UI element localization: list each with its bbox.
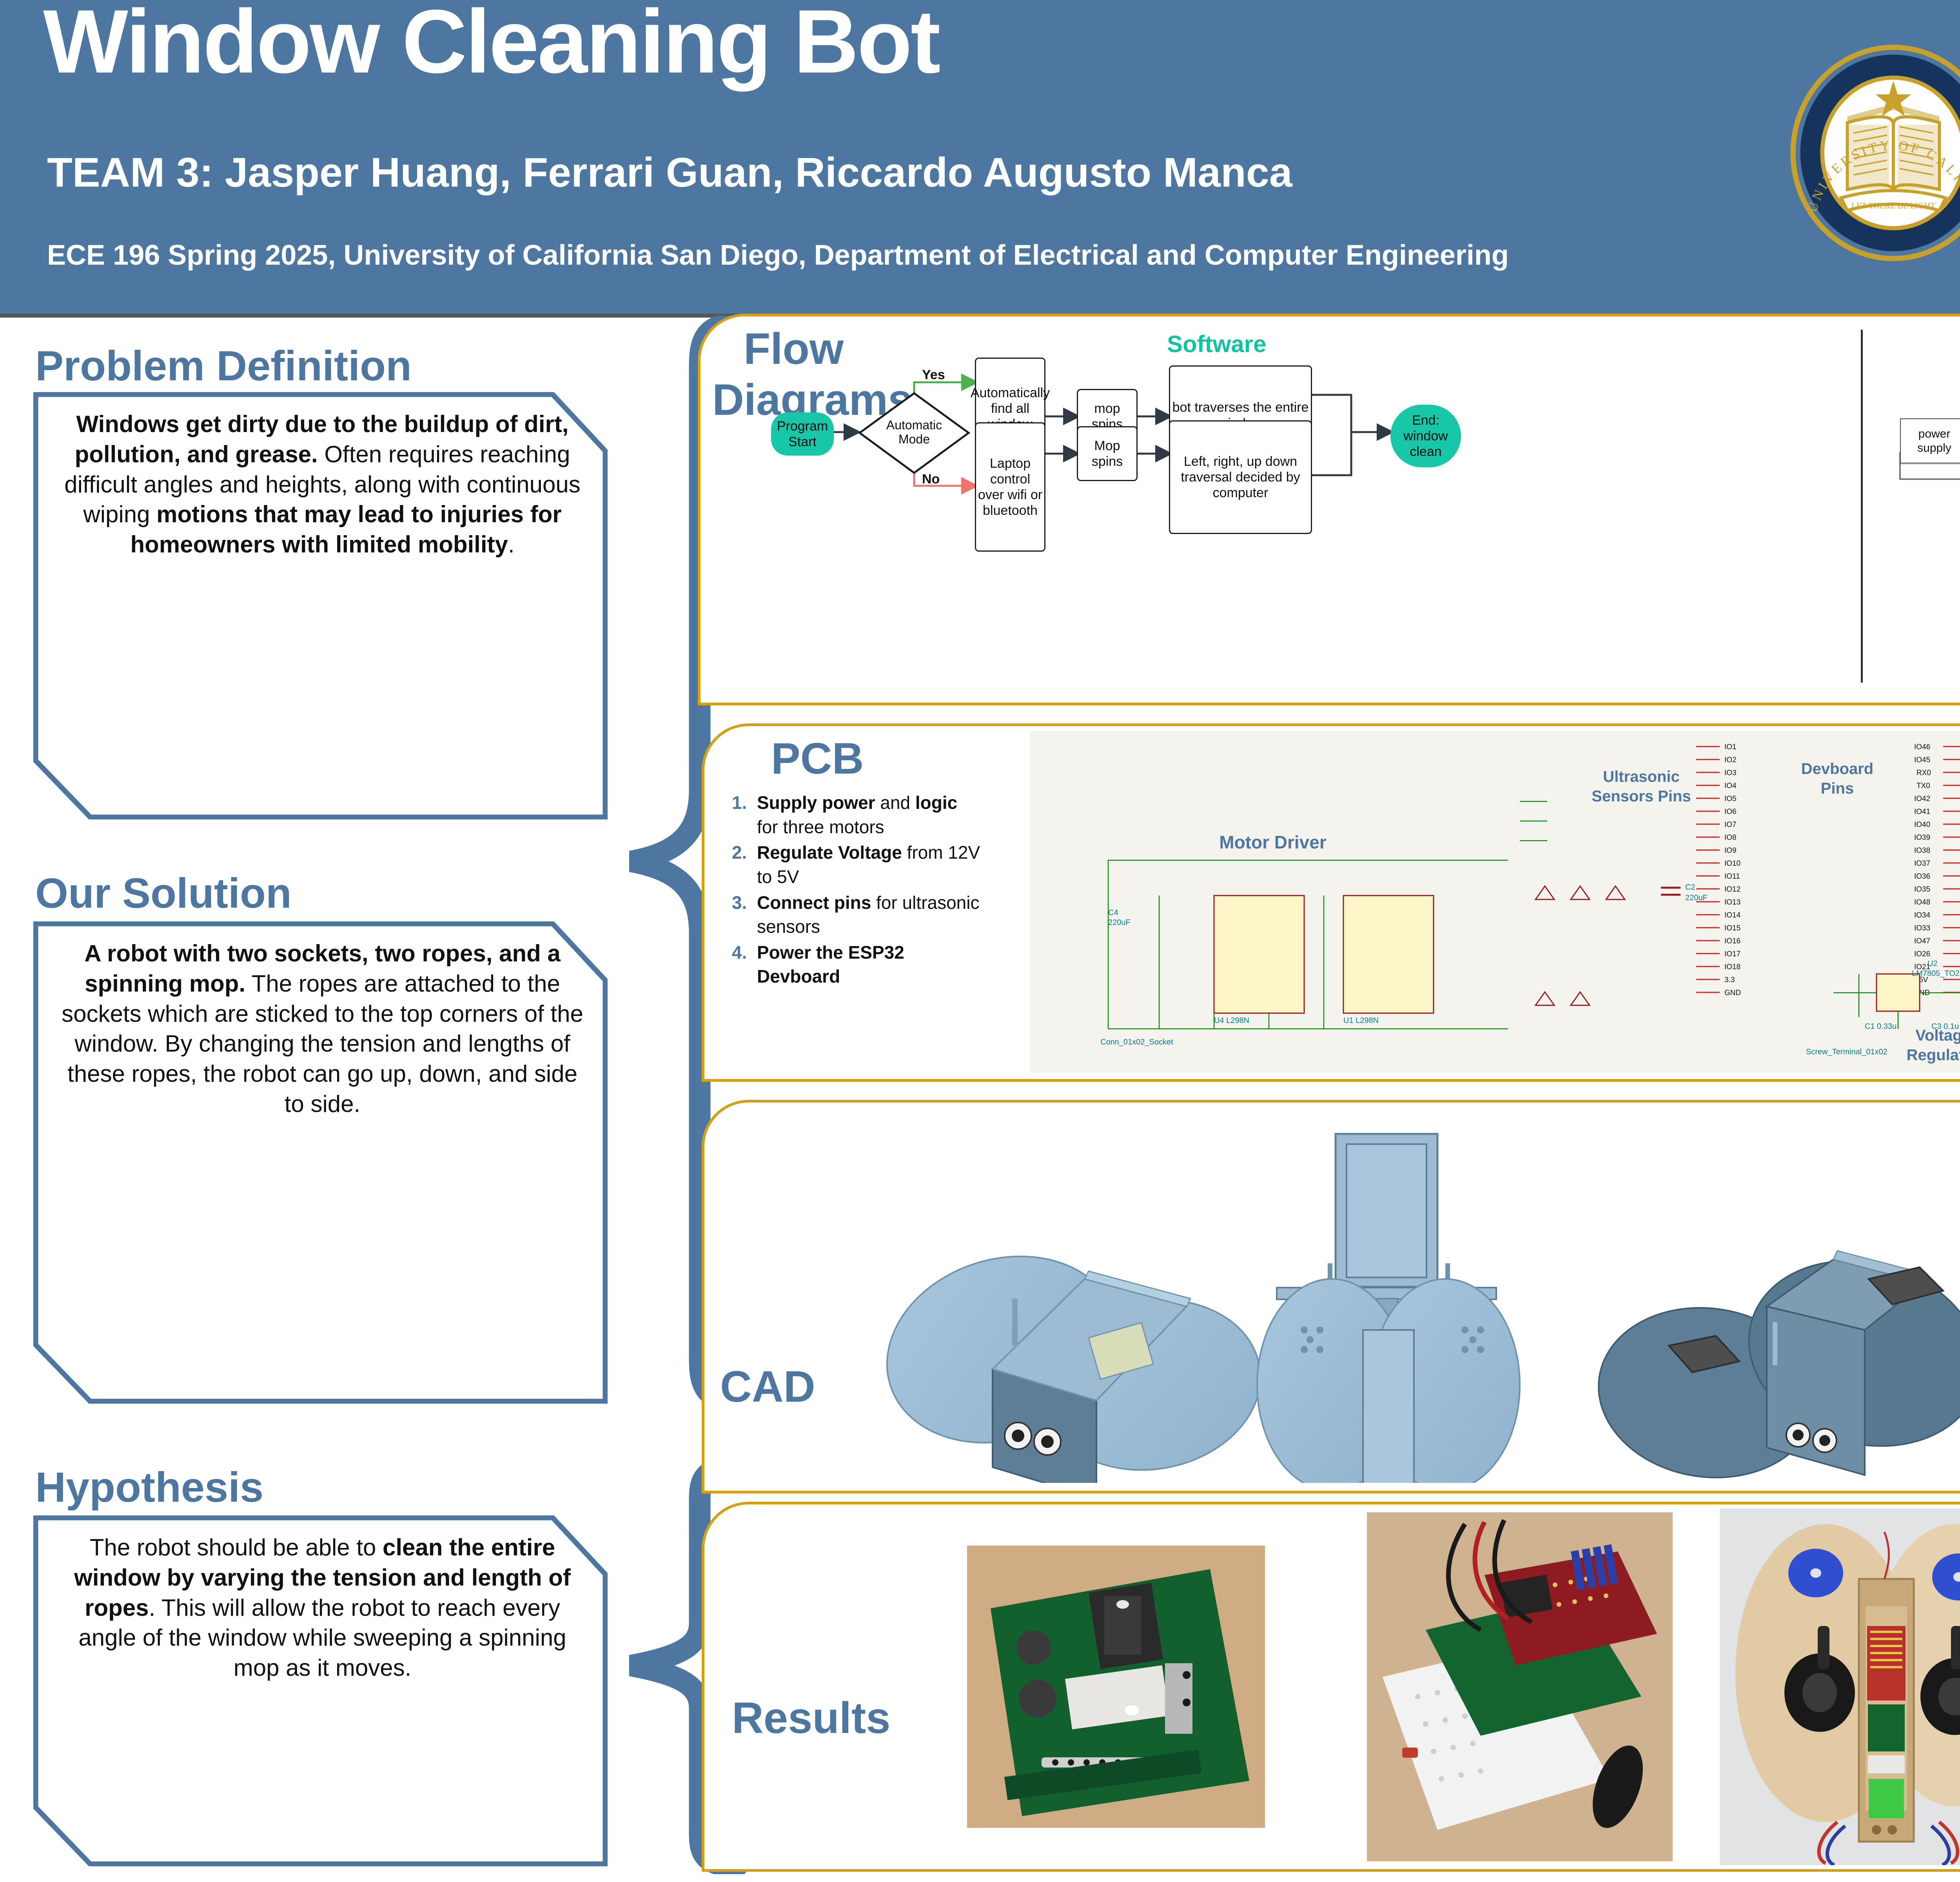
flow-node-mop-spins-2: Mop spins (1077, 426, 1138, 481)
svg-text:U4 L298N: U4 L298N (1214, 1016, 1249, 1025)
hypothesis-box: The robot should be able to clean the en… (33, 1515, 608, 1866)
svg-text:IO37: IO37 (1914, 859, 1930, 868)
svg-text:IO42: IO42 (1914, 795, 1930, 803)
problem-definition-box: Windows get dirty due to the buildup of … (33, 392, 608, 819)
svg-text:IO4: IO4 (1724, 782, 1737, 790)
list-item: 1.Supply power and logic for three motor… (732, 791, 983, 839)
svg-text:IO15: IO15 (1724, 924, 1740, 932)
svg-text:IO2: IO2 (1724, 756, 1737, 764)
flow-node-manual-traversal: Left, right, up down traversal decided b… (1169, 420, 1312, 534)
hypothesis-text: The robot should be able to clean the en… (57, 1533, 588, 1683)
svg-text:220uF: 220uF (1685, 894, 1708, 902)
flow-node-laptop-control: Laptop control over wifi or bluetooth (975, 422, 1045, 552)
svg-text:IO35: IO35 (1914, 885, 1930, 894)
svg-text:IO8: IO8 (1724, 834, 1737, 842)
svg-text:Ultrasonic: Ultrasonic (1603, 768, 1680, 785)
results-panel: Results (702, 1502, 1960, 1872)
svg-text:Devboard: Devboard (1801, 760, 1874, 778)
flow-edge-label-yes: Yes (922, 367, 945, 383)
page-title: Window Cleaning Bot (43, 0, 939, 89)
cad-panel: CAD (702, 1100, 1960, 1493)
svg-text:Mode: Mode (898, 432, 930, 446)
svg-text:RX0: RX0 (1916, 769, 1931, 777)
cad-renders-image (814, 1110, 1960, 1483)
svg-text:IO17: IO17 (1724, 950, 1740, 958)
svg-text:IO1: IO1 (1724, 743, 1737, 751)
flow-diagrams-panel: Flow Diagrams Software Hardware (698, 314, 1960, 705)
svg-text:IO45: IO45 (1914, 756, 1930, 764)
svg-text:U2: U2 (1927, 959, 1938, 968)
cad-title: CAD (720, 1361, 815, 1412)
svg-text:IO41: IO41 (1914, 808, 1930, 816)
svg-text:LET THERE BE LIGHT: LET THERE BE LIGHT (1851, 201, 1935, 210)
svg-text:IO7: IO7 (1724, 821, 1737, 829)
svg-text:IO26: IO26 (1914, 950, 1930, 958)
list-text: Power the ESP32 Devboard (757, 941, 983, 989)
svg-text:IO10: IO10 (1724, 859, 1740, 868)
pcb-title: PCB (771, 733, 864, 784)
problem-definition-text: Windows get dirty due to the buildup of … (57, 409, 588, 560)
course-affiliation: ECE 196 Spring 2025, University of Calif… (47, 239, 1509, 271)
svg-text:IO38: IO38 (1914, 847, 1930, 855)
list-number: 4. (732, 941, 757, 989)
svg-text:3.3: 3.3 (1724, 976, 1735, 984)
svg-text:IO47: IO47 (1914, 937, 1930, 945)
flow-edge-label-no: No (922, 472, 940, 487)
list-text: Supply power and logic for three motors (757, 791, 983, 839)
svg-text:IO3: IO3 (1724, 769, 1737, 777)
pcb-panel: PCB 1.Supply power and logic for three m… (702, 723, 1960, 1082)
ucsd-logo-lockup: LET THERE BE LIGHT UNIVERSITY OF CALIFOR… (1784, 12, 1960, 294)
list-number: 3. (732, 891, 757, 939)
pcb-feature-list: 1.Supply power and logic for three motor… (732, 791, 983, 990)
results-title: Results (732, 1693, 891, 1743)
svg-text:TX0: TX0 (1916, 782, 1930, 790)
result-photo-protoboard (1367, 1512, 1673, 1861)
svg-text:IO36: IO36 (1914, 872, 1930, 881)
svg-text:GND: GND (1724, 989, 1741, 997)
list-number: 1. (732, 791, 757, 839)
list-text: Regulate Voltage from 12V to 5V (757, 841, 983, 889)
svg-text:Conn_01x02_Socket: Conn_01x02_Socket (1100, 1038, 1173, 1046)
list-text: Connect pins for ultrasonic sensors (757, 891, 983, 939)
hardware-flow-connectors (1861, 316, 1960, 703)
pcb-schematic-image: Motor Driver Ultrasonic Sensors Pins Dev… (1030, 731, 1960, 1073)
result-photo-chassis-top (1720, 1508, 1960, 1865)
svg-text:IO34: IO34 (1914, 911, 1931, 919)
svg-text:Sensors Pins: Sensors Pins (1592, 788, 1691, 805)
svg-text:IO13: IO13 (1724, 898, 1740, 906)
list-item: 2.Regulate Voltage from 12V to 5V (732, 841, 983, 889)
poster-header: Window Cleaning Bot TEAM 3: Jasper Huang… (0, 0, 1960, 318)
svg-text:IO14: IO14 (1724, 911, 1741, 919)
svg-text:Pins: Pins (1821, 780, 1854, 797)
problem-definition-heading: Problem Definition (35, 341, 412, 390)
flow-node-start: ProgramStart (771, 412, 834, 456)
svg-text:LM7805_TO220: LM7805_TO220 (1912, 969, 1960, 978)
svg-text:IO46: IO46 (1914, 743, 1930, 751)
svg-text:IO18: IO18 (1724, 963, 1740, 971)
svg-text:C4: C4 (1108, 908, 1118, 917)
svg-text:IO6: IO6 (1724, 808, 1737, 816)
svg-text:IO12: IO12 (1724, 885, 1740, 894)
svg-text:IO39: IO39 (1914, 834, 1930, 842)
svg-text:IO48: IO48 (1914, 898, 1930, 906)
flow-node-decision: Automatic Mode (857, 391, 971, 475)
our-solution-heading: Our Solution (35, 868, 292, 917)
list-number: 2. (732, 841, 757, 889)
svg-text:IO11: IO11 (1724, 872, 1740, 881)
svg-text:C2: C2 (1685, 883, 1695, 892)
flow-node-end: End: window clean (1390, 405, 1461, 467)
svg-text:Screw_Terminal_01x02: Screw_Terminal_01x02 (1806, 1048, 1887, 1056)
svg-text:U1 L298N: U1 L298N (1343, 1016, 1379, 1025)
svg-text:C1 0.33u: C1 0.33u (1865, 1022, 1896, 1031)
schematic-label-motor-driver: Motor Driver (1219, 832, 1327, 852)
result-photo-pcb-shield (967, 1546, 1265, 1828)
our-solution-box: A robot with two sockets, two ropes, and… (33, 921, 608, 1404)
list-item: 3.Connect pins for ultrasonic sensors (732, 891, 983, 939)
svg-text:IO40: IO40 (1914, 821, 1930, 829)
svg-text:IO5: IO5 (1724, 795, 1737, 803)
our-solution-text: A robot with two sockets, two ropes, and… (57, 939, 588, 1119)
svg-text:Regulator: Regulator (1907, 1046, 1960, 1064)
list-item: 4.Power the ESP32 Devboard (732, 941, 983, 989)
svg-text:C3 0.1u: C3 0.1u (1931, 1022, 1959, 1031)
hw-node-power-supply: power supply (1900, 418, 1960, 463)
svg-text:IO16: IO16 (1724, 937, 1740, 945)
svg-text:IO9: IO9 (1724, 847, 1737, 855)
svg-text:IO33: IO33 (1914, 924, 1930, 932)
hypothesis-heading: Hypothesis (35, 1462, 263, 1511)
team-members: TEAM 3: Jasper Huang, Ferrari Guan, Ricc… (47, 149, 1292, 196)
svg-text:Automatic: Automatic (886, 418, 942, 432)
uc-seal-icon: LET THERE BE LIGHT UNIVERSITY OF CALIFOR… (1788, 43, 1960, 263)
svg-text:220uF: 220uF (1108, 918, 1131, 927)
